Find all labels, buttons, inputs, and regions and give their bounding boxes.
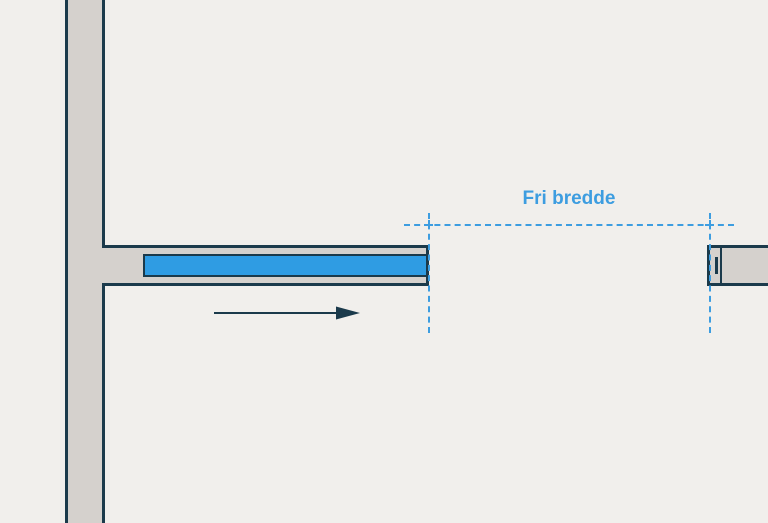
extension-line-right bbox=[709, 213, 711, 333]
sliding-door-leaf bbox=[143, 254, 428, 277]
dimension-node-left-icon bbox=[424, 220, 433, 229]
clear-width-label: Fri bredde bbox=[404, 188, 734, 210]
door-rebate-notch bbox=[710, 257, 718, 274]
slide-direction-arrow-icon bbox=[214, 305, 360, 321]
dimension-line bbox=[404, 224, 734, 226]
bearing-wall bbox=[65, 0, 105, 523]
door-jamb bbox=[707, 245, 768, 286]
floor-plan-canvas: Fri bredde bbox=[0, 0, 768, 523]
extension-line-left bbox=[428, 213, 430, 333]
sheet-left-margin bbox=[0, 0, 65, 523]
dimension-node-right-icon bbox=[705, 220, 714, 229]
